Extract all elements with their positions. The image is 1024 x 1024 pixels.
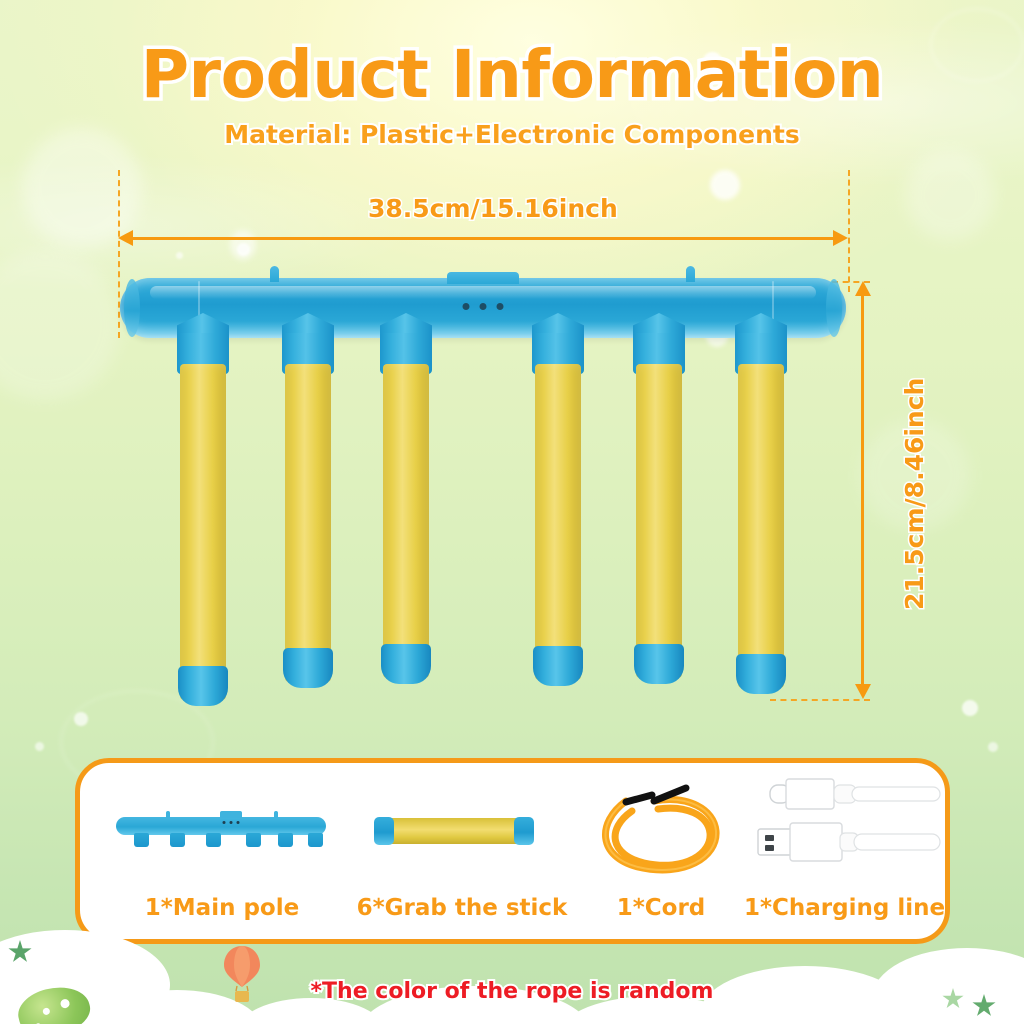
width-arrow-head-left	[118, 230, 133, 246]
accessory-item-charging-line[interactable]: 1*Charging line	[744, 763, 944, 939]
mini-socket	[134, 833, 149, 847]
grab-stick-end-cap	[283, 648, 333, 688]
grab-stick[interactable]	[383, 364, 429, 678]
grab-stick-icon-cap-right	[514, 817, 534, 845]
grab-stick-end-cap	[634, 644, 684, 684]
grab-stick-icon-body	[388, 818, 520, 844]
grab-stick-end-cap	[736, 654, 786, 694]
mini-socket	[170, 833, 185, 847]
led-dot	[497, 303, 504, 310]
bokeh-circle	[962, 700, 978, 716]
accessory-item-main-pole[interactable]: 1*Main pole	[98, 763, 346, 939]
grab-stick-body	[535, 364, 581, 680]
mini-socket	[308, 833, 323, 847]
accessory-label: 1*Charging line	[744, 895, 944, 921]
mini-cord-tab	[274, 811, 278, 818]
height-arrow-line	[861, 291, 864, 689]
page-title: Product Information	[0, 36, 1024, 113]
material-subtitle: Material: Plastic+Electronic Components	[0, 120, 1024, 149]
grab-stick-end-cap	[381, 644, 431, 684]
bokeh-circle	[905, 150, 995, 240]
grab-stick[interactable]	[535, 364, 581, 680]
charging-cable-icon	[752, 777, 942, 878]
main-pole-icon	[98, 763, 346, 873]
grab-stick-body	[383, 364, 429, 678]
mini-socket	[206, 833, 221, 847]
cord-loop-tab-left	[270, 266, 279, 282]
grab-stick-end-cap	[178, 666, 228, 706]
mini-led-group	[223, 821, 240, 824]
accessory-label: 1*Cord	[578, 895, 744, 921]
mini-cord-tab	[166, 811, 170, 818]
led-indicator-group	[463, 303, 504, 310]
bokeh-circle	[230, 230, 256, 260]
height-dimension-label: 21.5cm/8.46inch	[900, 378, 929, 610]
grab-stick-body	[636, 364, 682, 678]
mini-socket	[278, 833, 293, 847]
mini-power-button	[220, 811, 242, 818]
grab-stick[interactable]	[636, 364, 682, 678]
led-dot	[480, 303, 487, 310]
accessories-panel: 1*Main pole 6*Grab the stick	[75, 758, 950, 944]
accessory-label: 1*Main pole	[98, 895, 346, 921]
bokeh-circle	[988, 742, 998, 752]
dimension-guide-right	[848, 170, 850, 292]
width-dimension-label: 38.5cm/15.16inch	[368, 194, 618, 223]
bokeh-circle	[74, 712, 88, 726]
grab-stick[interactable]	[180, 364, 226, 700]
grab-stick-body	[285, 364, 331, 682]
grab-stick-icon-cap-left	[374, 817, 394, 845]
pole-end-cap-left	[124, 279, 140, 337]
power-button[interactable]	[447, 272, 519, 284]
accessory-label: 6*Grab the stick	[346, 895, 578, 921]
cord-icon	[592, 771, 732, 888]
bokeh-circle	[710, 170, 740, 200]
bokeh-circle	[35, 742, 44, 751]
height-arrow-head-top	[855, 281, 871, 296]
grab-stick[interactable]	[738, 364, 784, 688]
pole-highlight	[150, 286, 816, 299]
cord-loop-tab-right	[686, 266, 695, 282]
accessory-item-grab-stick[interactable]: 6*Grab the stick	[346, 763, 578, 939]
footnote-text: *The color of the rope is random	[0, 979, 1024, 1004]
width-arrow-line	[128, 237, 838, 240]
accessory-item-cord[interactable]: 1*Cord	[578, 763, 744, 939]
width-arrow-head-right	[833, 230, 848, 246]
grab-stick-body	[738, 364, 784, 688]
grab-stick-body	[180, 364, 226, 700]
grab-stick-icon	[374, 818, 534, 844]
pole-end-cap-right	[826, 279, 842, 337]
product-information-graphic: Product Information Material: Plastic+El…	[0, 0, 1024, 1024]
mini-socket	[246, 833, 261, 847]
grab-stick-end-cap	[533, 646, 583, 686]
grab-stick[interactable]	[285, 364, 331, 682]
bokeh-circle	[176, 252, 183, 259]
height-arrow-head-bottom	[855, 684, 871, 699]
led-dot	[463, 303, 470, 310]
height-guide-bottom	[770, 699, 870, 701]
